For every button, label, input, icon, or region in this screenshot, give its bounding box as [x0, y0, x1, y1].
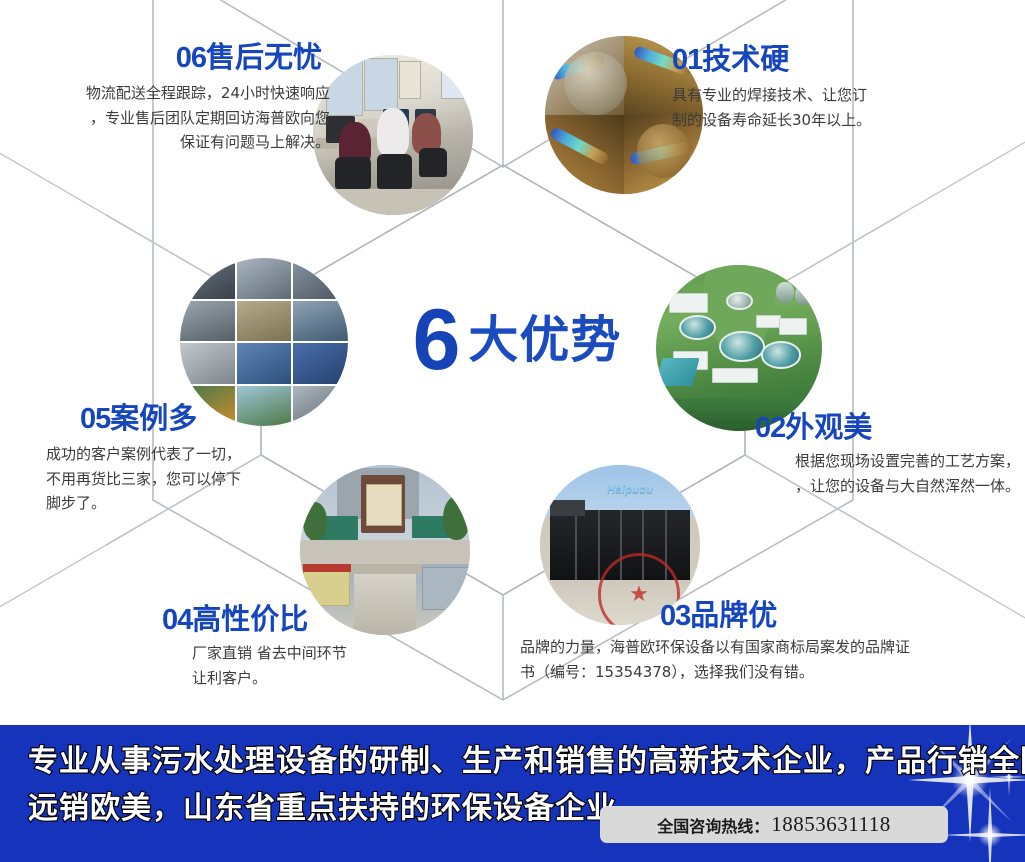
advantage-03-number: 03 — [660, 600, 690, 632]
advantage-02-number: 02 — [755, 412, 785, 444]
advantages-infographic: 6 大优势 — [0, 0, 1025, 862]
advantage-06-title: 售后无忧 — [206, 40, 322, 74]
advantage-06-text: 06售后无忧 物流配送全程跟踪，24小时快速响应 ，专业售后团队定期回访海普欧向… — [10, 42, 330, 155]
office-team-photo — [313, 55, 473, 215]
advantage-04-number: 04 — [162, 604, 192, 636]
advantage-04-title: 高性价比 — [192, 602, 308, 636]
advantage-01-body: 具有专业的焊接技术、让您订 制的设备寿命延长30年以上。 — [672, 83, 922, 133]
hotline-label: 全国咨询热线： — [657, 813, 769, 837]
advantage-02-heading: 02外观美 — [700, 412, 1020, 445]
wastewater-plant-aerial-photo — [656, 265, 822, 431]
advantage-03-text: 03品牌优 品牌的力量，海普欧环保设备以有国家商标局案发的品牌证 书（编号：15… — [520, 600, 940, 684]
sparkle-icon-medium — [935, 780, 1025, 862]
advantage-05-heading: 05案例多 — [22, 403, 312, 436]
advantage-04-text: 04高性价比 厂家直销 省去中间环节 让利客户。 — [120, 604, 450, 690]
advantage-01-heading: 01技术硬 — [672, 44, 1002, 77]
advantage-06-number: 06 — [176, 42, 206, 74]
hotline-number: 18853631118 — [771, 812, 890, 837]
case-collage-photo — [180, 258, 348, 426]
advantage-01-text: 01技术硬 具有专业的焊接技术、让您订 制的设备寿命延长30年以上。 — [672, 44, 1002, 132]
center-number: 6 — [413, 297, 459, 383]
advantage-04-heading: 04高性价比 — [120, 604, 450, 637]
advantage-04-body: 厂家直销 省去中间环节 让利客户。 — [120, 641, 450, 691]
hotline-box[interactable]: 全国咨询热线：18853631118 — [600, 806, 948, 843]
advantage-03-body: 品牌的力量，海普欧环保设备以有国家商标局案发的品牌证 书（编号：15354378… — [520, 635, 940, 685]
advantage-02-body: 根据您现场设置完善的工艺方案， ，让您的设备与大自然浑然一体。 — [700, 449, 1020, 499]
advantage-06-body: 物流配送全程跟踪，24小时快速响应 ，专业售后团队定期回访海普欧向您 保证有问题… — [10, 81, 330, 155]
advantage-05-title: 案例多 — [110, 401, 197, 435]
advantage-01-number: 01 — [672, 44, 702, 76]
advantage-03-heading: 03品牌优 — [520, 600, 940, 633]
advantage-05-number: 05 — [80, 403, 110, 435]
banner-slogan-line-1: 专业从事污水处理设备的研制、生产和销售的高新技术企业，产品行销全国并 — [28, 739, 883, 786]
center-label: 6 大优势 — [382, 285, 652, 395]
advantage-01-title: 技术硬 — [702, 42, 789, 76]
advantage-06-heading: 06售后无忧 — [10, 42, 330, 75]
brand-logo-text: Haipuou — [607, 484, 653, 496]
advantage-05-body: 成功的客户案例代表了一切， 不用再货比三家，您可以停下 脚步了。 — [22, 442, 312, 516]
advantage-02-title: 外观美 — [785, 410, 872, 444]
advantage-03-title: 品牌优 — [690, 598, 777, 632]
advantage-05-text: 05案例多 成功的客户案例代表了一切， 不用再货比三家，您可以停下 脚步了。 — [22, 403, 312, 516]
center-text: 大优势 — [468, 315, 621, 365]
advantage-02-text: 02外观美 根据您现场设置完善的工艺方案， ，让您的设备与大自然浑然一体。 — [700, 412, 1020, 498]
